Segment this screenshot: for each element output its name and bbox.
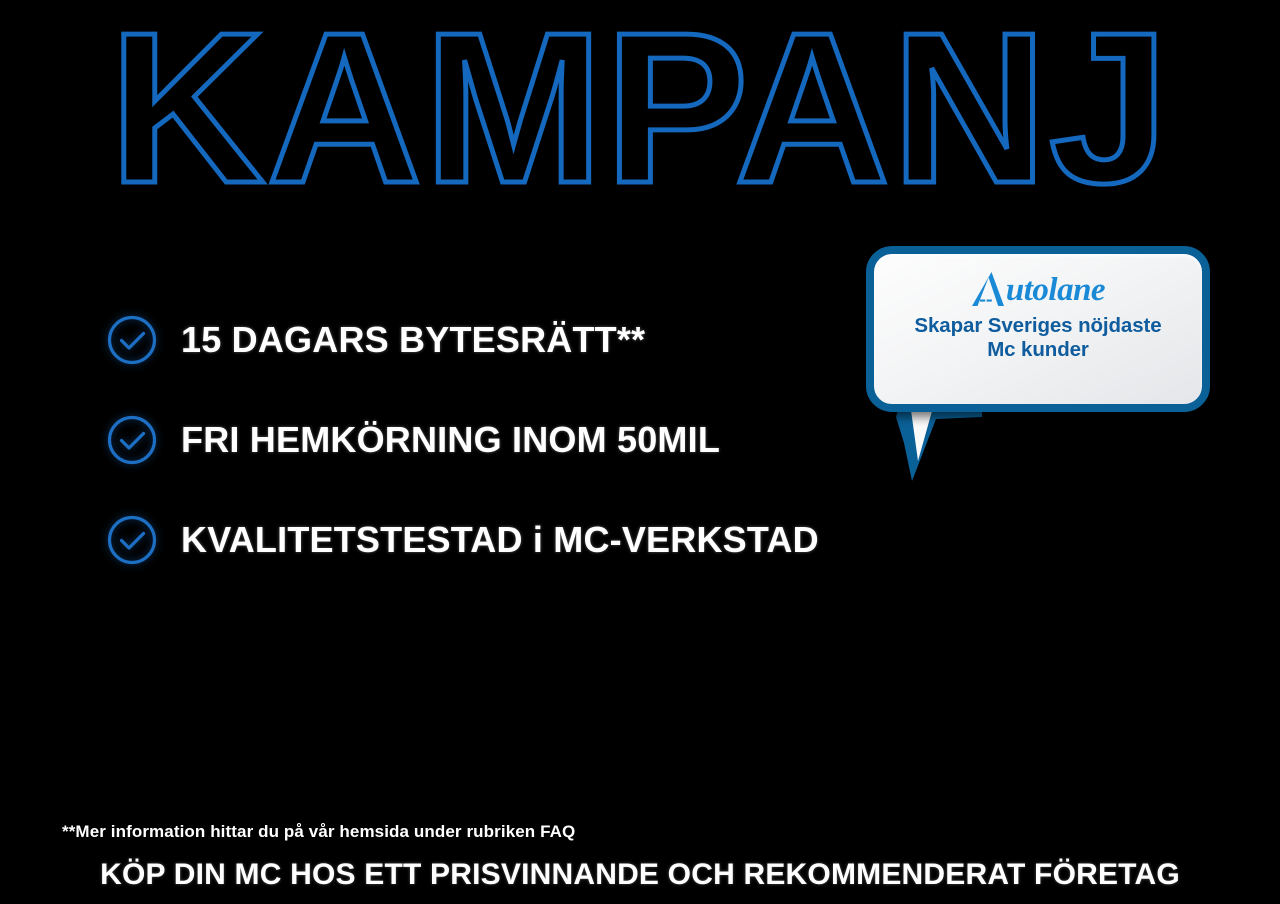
- circle-check-icon: [105, 513, 159, 567]
- list-item: FRI HEMKÖRNING INOM 50MIL: [105, 390, 905, 490]
- autolane-logo-text: utolane: [1006, 274, 1105, 307]
- list-item-label: 15 DAGARS BYTESRÄTT**: [181, 319, 645, 361]
- list-item: KVALITETSTESTAD i MC-VERKSTAD: [105, 490, 905, 590]
- list-item-label: KVALITETSTESTAD i MC-VERKSTAD: [181, 519, 819, 561]
- speech-bubble-tail: [896, 403, 986, 483]
- autolane-speech-bubble: utolane Skapar Sveriges nöjdaste Mc kund…: [866, 246, 1210, 412]
- autolane-a-icon: [971, 270, 1005, 308]
- footnote-text: **Mer information hittar du på vår hemsi…: [62, 822, 575, 842]
- circle-check-icon: [105, 413, 159, 467]
- bubble-tagline: Skapar Sveriges nöjdaste Mc kunder: [874, 314, 1202, 362]
- list-item: 15 DAGARS BYTESRÄTT**: [105, 290, 905, 390]
- campaign-banner: KAMPANJ 15 DAGARS BYTESRÄTT** FRI HEMKÖR…: [0, 0, 1280, 904]
- circle-check-icon: [105, 313, 159, 367]
- benefit-list: 15 DAGARS BYTESRÄTT** FRI HEMKÖRNING INO…: [105, 290, 905, 590]
- award-badges: REKOMMENDERAT 6 ★★★ ★★★ ÅR I RAD reco: [0, 596, 1280, 816]
- footer-tagline: KÖP DIN MC HOS ETT PRISVINNANDE OCH REKO…: [0, 858, 1280, 892]
- title-glyphs: KAMPANJ: [109, 22, 1170, 222]
- autolane-logo: utolane: [874, 266, 1202, 308]
- bubble-tagline-line2: Mc kunder: [874, 338, 1202, 362]
- page-title: KAMPANJ: [0, 22, 1280, 222]
- bubble-tagline-line1: Skapar Sveriges nöjdaste: [874, 314, 1202, 338]
- list-item-label: FRI HEMKÖRNING INOM 50MIL: [181, 419, 720, 461]
- kampanj-outline-title: KAMPANJ: [105, 22, 1175, 222]
